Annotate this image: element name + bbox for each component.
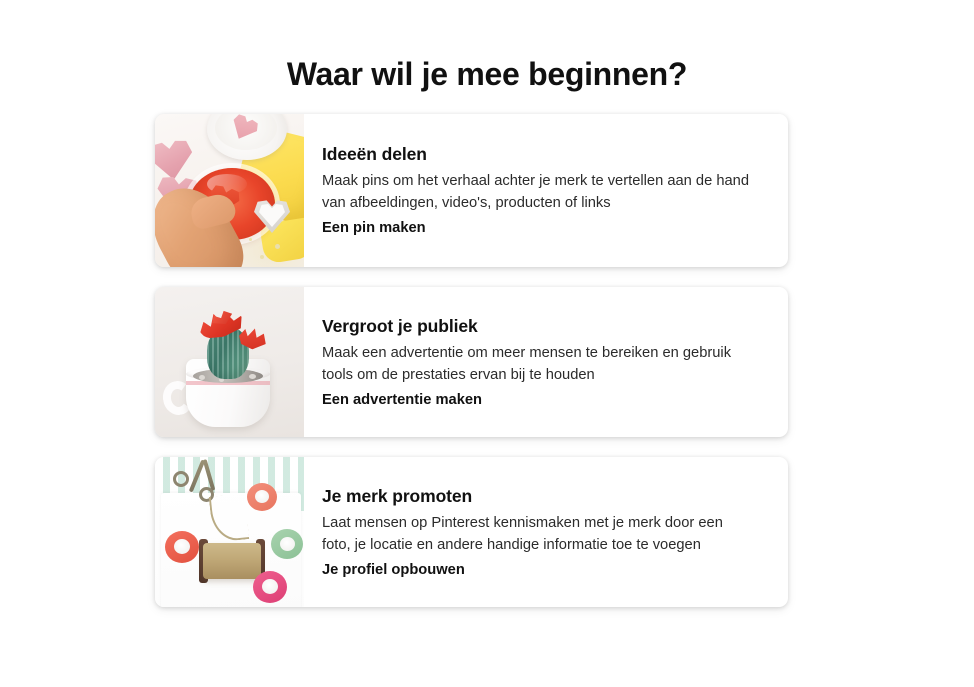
card-description: Laat mensen op Pinterest kennismaken met… bbox=[322, 512, 752, 556]
washi-tape-hole bbox=[174, 539, 190, 554]
scissors-handle-ring-shape bbox=[173, 471, 189, 487]
card-thumbnail-vergroot-je-publiek bbox=[155, 287, 304, 437]
card-body-vergroot-je-publiek: Vergroot je publiek Maak een advertentie… bbox=[304, 287, 788, 437]
card-heading: Je merk promoten bbox=[322, 484, 766, 508]
card-action-link-een-pin-maken[interactable]: Een pin maken bbox=[322, 217, 426, 239]
pebble-shape bbox=[199, 375, 205, 380]
card-action-link-een-advertentie-maken[interactable]: Een advertentie maken bbox=[322, 389, 482, 411]
pink-heart-cookie-shape bbox=[155, 137, 196, 183]
card-thumbnail-je-merk-promoten bbox=[155, 457, 304, 607]
card-action-link-je-profiel-opbouwen[interactable]: Je profiel opbouwen bbox=[322, 559, 465, 581]
card-description: Maak een advertentie om meer mensen te b… bbox=[322, 342, 752, 386]
washi-tape-hole bbox=[262, 579, 278, 594]
card-thumbnail-ideeen-delen bbox=[155, 114, 304, 267]
crumb-shape bbox=[260, 255, 264, 259]
card-ideeen-delen[interactable]: Ideeën delen Maak pins om het verhaal ac… bbox=[155, 114, 788, 267]
card-vergroot-je-publiek[interactable]: Vergroot je publiek Maak een advertentie… bbox=[155, 287, 788, 437]
card-heading: Vergroot je publiek bbox=[322, 314, 766, 338]
page-title: Waar wil je mee beginnen? bbox=[0, 54, 974, 94]
card-body-ideeen-delen: Ideeën delen Maak pins om het verhaal ac… bbox=[304, 114, 788, 267]
card-heading: Ideeën delen bbox=[322, 142, 766, 166]
washi-tape-hole bbox=[255, 490, 269, 503]
cactus-photo bbox=[155, 287, 304, 437]
wooden-spool-shape bbox=[203, 543, 261, 579]
craft-photo bbox=[155, 457, 304, 607]
onboarding-page: Waar wil je mee beginnen? bbox=[0, 0, 974, 687]
crumb-shape bbox=[275, 244, 280, 249]
card-list: Ideeën delen Maak pins om het verhaal ac… bbox=[155, 114, 788, 627]
crumb-shape bbox=[249, 238, 252, 241]
pebble-shape bbox=[249, 374, 256, 379]
washi-tape-hole bbox=[280, 537, 295, 551]
baking-photo bbox=[155, 114, 304, 267]
card-je-merk-promoten[interactable]: Je merk promoten Laat mensen op Pinteres… bbox=[155, 457, 788, 607]
card-body-je-merk-promoten: Je merk promoten Laat mensen op Pinteres… bbox=[304, 457, 788, 607]
card-description: Maak pins om het verhaal achter je merk … bbox=[322, 170, 752, 214]
